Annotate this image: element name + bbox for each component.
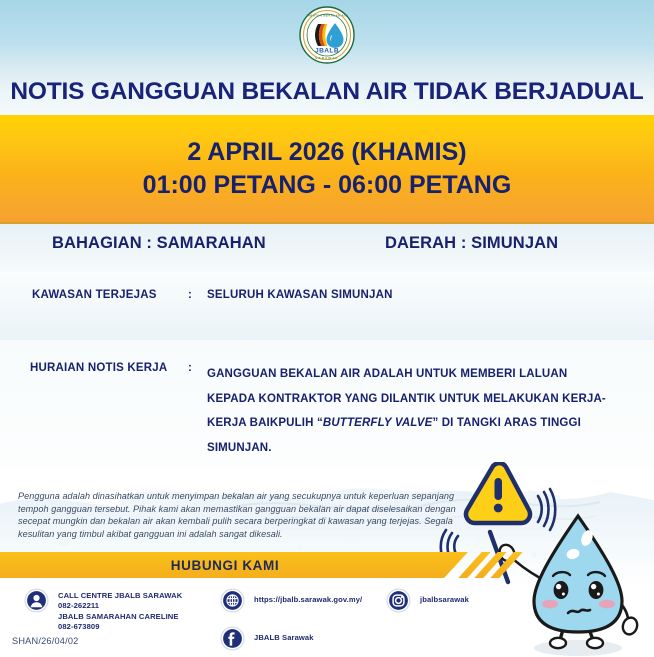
contact-line: 082-673809	[58, 622, 182, 632]
work-notice-line-3-pre: KERJA BAIKPULIH “	[207, 417, 323, 429]
svg-text:SARAWAK: SARAWAK	[315, 56, 339, 60]
poster-body: BAHAGIAN : SAMARAHAN DAERAH : SIMUNJAN K…	[0, 222, 654, 657]
water-disruption-notice-poster: JABATAN BEKALAN AIR SARAWAK JBALB NOTIS …	[0, 0, 654, 657]
reference-code: SHAN/26/04/02	[12, 636, 78, 646]
affected-area-colon: :	[188, 289, 192, 301]
globe-icon	[220, 588, 245, 613]
contact-website-text: https://jbalb.sarawak.gov.my/	[254, 595, 362, 605]
work-notice-line-3-post: ” DI TANGKI ARAS TINGGI	[432, 417, 580, 429]
page-title: NOTIS GANGGUAN BEKALAN AIR TIDAK BERJADU…	[0, 78, 654, 106]
date-time-band: 2 APRIL 2026 (KHAMIS) 01:00 PETANG - 06:…	[0, 115, 654, 222]
contact-details: CALL CENTRE JBALB SARAWAK 082-262211 JBA…	[0, 578, 654, 657]
poster-header: JABATAN BEKALAN AIR SARAWAK JBALB NOTIS …	[0, 0, 654, 115]
work-notice-line-3-italic: BUTTERFLY VALVE	[323, 417, 433, 429]
svg-text:JABATAN BEKALAN AIR: JABATAN BEKALAN AIR	[306, 14, 348, 18]
facebook-icon	[220, 626, 245, 651]
disclaimer-text: Pengguna adalah dinasihatkan untuk menyi…	[18, 490, 470, 540]
affected-area-label: KAWASAN TERJEJAS	[32, 289, 157, 301]
work-notice-line-1: GANGGUAN BEKALAN AIR ADALAH UNTUK MEMBER…	[207, 362, 607, 387]
work-notice-line-3: KERJA BAIKPULIH “BUTTERFLY VALVE” DI TAN…	[207, 411, 607, 436]
contact-line: 082-262211	[58, 601, 182, 611]
district-label: DAERAH : SIMUNJAN	[385, 234, 558, 253]
svg-text:JBALB: JBALB	[315, 47, 339, 54]
work-notice-line-2: KEPADA KONTRAKTOR YANG DILANTIK UNTUK ME…	[207, 387, 607, 412]
division-label: BAHAGIAN : SAMARAHAN	[52, 234, 266, 253]
work-notice-body: GANGGUAN BEKALAN AIR ADALAH UNTUK MEMBER…	[207, 362, 607, 460]
contact-banner: HUBUNGI KAMI	[0, 552, 468, 578]
work-notice-label: HURAIAN NOTIS KERJA	[30, 362, 167, 374]
bg-band-2	[0, 272, 654, 340]
contact-call-centre-text: CALL CENTRE JBALB SARAWAK 082-262211 JBA…	[58, 591, 182, 633]
contact-banner-wrap: HUBUNGI KAMI	[0, 552, 654, 578]
instagram-icon	[386, 588, 411, 613]
disruption-date: 2 APRIL 2026 (KHAMIS)	[187, 136, 466, 169]
jbalb-sarawak-logo: JABATAN BEKALAN AIR SARAWAK JBALB	[298, 6, 356, 64]
contact-instagram-text: jbalbsarawak	[420, 595, 469, 605]
contact-banner-title: HUBUNGI KAMI	[171, 558, 297, 573]
person-icon	[24, 588, 49, 613]
work-notice-colon: :	[188, 362, 192, 374]
region-row: BAHAGIAN : SAMARAHAN DAERAH : SIMUNJAN	[0, 234, 654, 266]
contact-line: CALL CENTRE JBALB SARAWAK	[58, 591, 182, 601]
work-notice-line-4: SIMUNJAN.	[207, 436, 607, 461]
contact-line: JBALB SAMARAHAN CARELINE	[58, 612, 182, 622]
affected-area-value: SELURUH KAWASAN SIMUNJAN	[207, 289, 393, 301]
contact-facebook-text: JBALB Sarawak	[254, 633, 314, 643]
disruption-time: 01:00 PETANG - 06:00 PETANG	[143, 169, 512, 202]
